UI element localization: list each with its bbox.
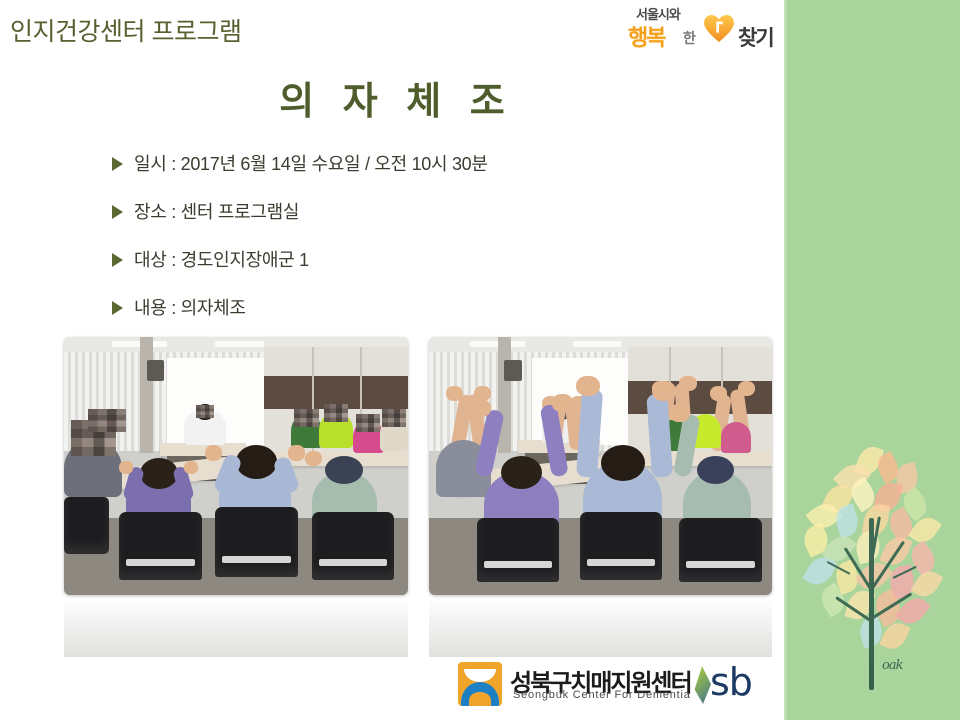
- header-title: 인지건강센터 프로그램: [10, 12, 241, 48]
- seoul-logo-find: 찾기: [738, 22, 773, 52]
- seongbuk-dementia-center-logo: 성북구치매지원센터 Seongbuk Center For Dementia s…: [458, 658, 768, 712]
- page-title: 의 자 체 조: [0, 70, 784, 125]
- list-item: 대상 : 경도인지장애군 1: [112, 248, 752, 272]
- heart-icon: [704, 15, 734, 43]
- program-photo-right: [429, 337, 772, 595]
- triangle-bullet-icon: [112, 157, 123, 171]
- program-photo-left-reflection: [64, 597, 408, 657]
- program-photo-left: [64, 337, 408, 595]
- program-photo-right-reflection: [429, 597, 772, 657]
- seoul-logo-han: 한: [683, 28, 695, 48]
- list-item: 내용 : 의자체조: [112, 296, 752, 320]
- list-item: 장소 : 센터 프로그램실: [112, 200, 752, 224]
- list-item-label: 내용 : 의자체조: [134, 296, 246, 320]
- tree-trunk: [869, 518, 874, 690]
- seoul-logo-happy: 행복: [628, 20, 664, 52]
- list-item: 일시 : 2017년 6월 14일 수요일 / 오전 10시 30분: [112, 152, 752, 176]
- list-item-label: 일시 : 2017년 6월 14일 수요일 / 오전 10시 30분: [134, 152, 488, 176]
- triangle-bullet-icon: [112, 205, 123, 219]
- sb-wordmark: sb: [710, 660, 752, 704]
- triangle-bullet-icon: [112, 301, 123, 315]
- feather-icon: [691, 666, 711, 704]
- pastel-tree-illustration-icon: oak: [786, 440, 958, 720]
- triangle-bullet-icon: [112, 253, 123, 267]
- tree-signature: oak: [882, 658, 902, 673]
- list-item-label: 대상 : 경도인지장애군 1: [134, 248, 309, 272]
- program-details-list: 일시 : 2017년 6월 14일 수요일 / 오전 10시 30분 장소 : …: [112, 152, 752, 344]
- center-emblem-icon: [458, 662, 502, 706]
- list-item-label: 장소 : 센터 프로그램실: [134, 200, 299, 224]
- seoul-campaign-logo: 서울시와 행복 한 찾기: [628, 4, 778, 52]
- center-name-english: Seongbuk Center For Dementia: [513, 689, 691, 701]
